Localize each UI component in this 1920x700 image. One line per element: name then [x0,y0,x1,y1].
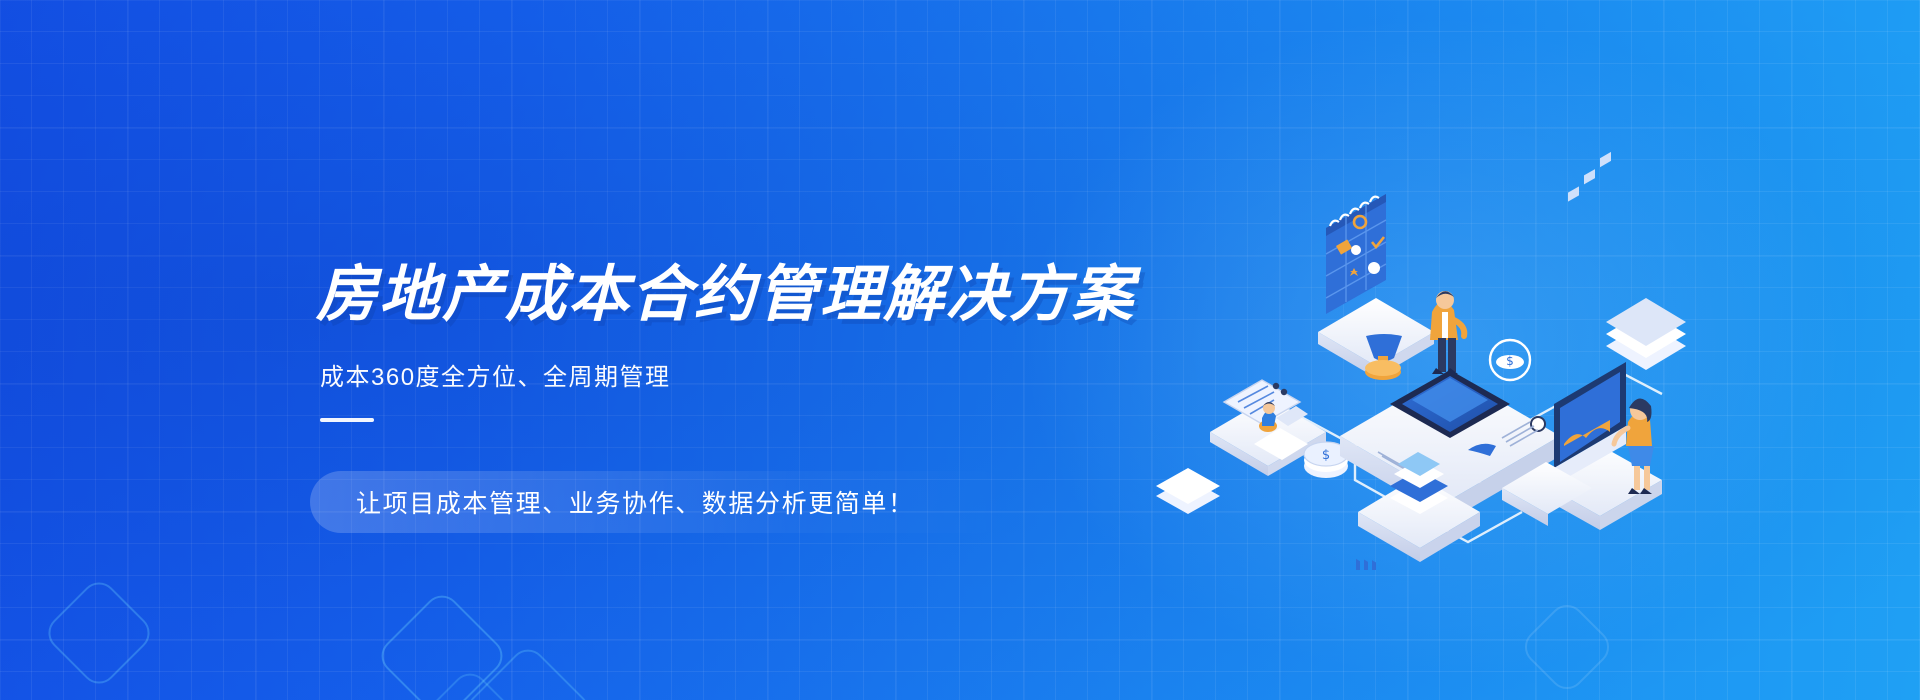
svg-text:$: $ [1322,448,1330,463]
hero-cta-text: 让项目成本管理、业务协作、数据分析更简单！ [356,484,915,520]
card-stack-icon [1606,298,1686,370]
svg-text:$: $ [1506,354,1514,368]
hero-banner: 房地产成本合约管理解决方案 成本360度全方位、全周期管理 让项目成本管理、业务… [0,0,1920,700]
businessman-figure [1430,291,1464,374]
hero-cta-pill[interactable]: 让项目成本管理、业务协作、数据分析更简单！ [310,471,1010,533]
hero-subtitle: 成本360度全方位、全周期管理 [320,357,1216,392]
hero-divider [320,418,374,422]
page-title: 房地产成本合约管理解决方案 [316,262,1216,327]
coin-stack-icon: $ [1490,340,1530,380]
hero-copy-block: 房地产成本合约管理解决方案 成本360度全方位、全周期管理 [316,262,1216,422]
isometric-business-platform-illustration: $ [1150,150,1710,570]
card-stack-icon [1156,468,1220,514]
